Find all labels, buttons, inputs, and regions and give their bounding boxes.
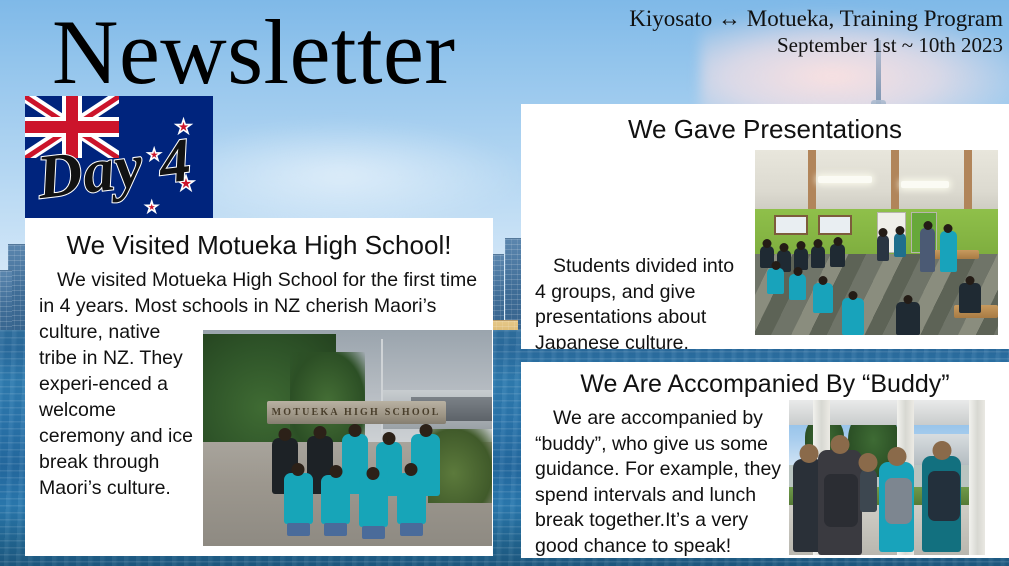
school-sign-text: MOTUEKA HIGH SCHOOL [267,401,446,424]
photo-students-with-buddies [789,400,985,555]
article-text-buddy: We are accompanied by “buddy”, who give … [535,406,783,558]
newsletter-page: Newsletter Kiyosato ↔ Motueka, Training … [0,0,1009,566]
article-heading-buddy: We Are Accompanied By “Buddy” [521,370,1009,399]
article-text-school-lead: We visited Motueka High School for the f… [25,267,493,319]
article-text-school-rest: culture, native tribe in NZ. They experi… [25,319,215,501]
article-heading-school: We Visited Motueka High School! [25,230,493,261]
school-sign: MOTUEKA HIGH SCHOOL [267,401,446,424]
article-heading-presentations: We Gave Presentations [521,114,1009,145]
day-badge-flag: Day 4 [25,96,213,220]
photo-presentation-hall [755,150,998,335]
program-dates: September 1st ~ 10th 2023 [777,33,1003,58]
photo-motueka-high-school-group: MOTUEKA HIGH SCHOOL [203,330,492,546]
page-title: Newsletter [52,6,456,98]
southern-cross-star-icon [145,200,158,215]
article-text-presentations: Students divided into 4 groups, and give… [535,254,750,349]
program-title: Kiyosato ↔ Motueka, Training Program [629,6,1003,32]
